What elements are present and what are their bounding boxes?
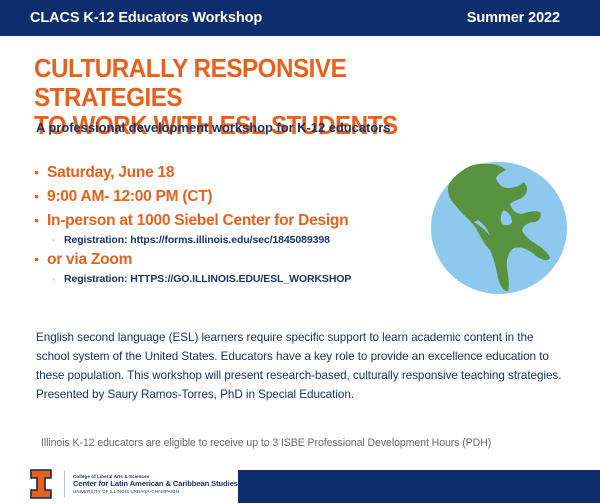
pdh-eligibility-note: Illinois K-12 educators are eligible to … [41,437,581,449]
list-item: • In-person at 1000 Siebel Center for De… [34,210,414,232]
bullet-dot-icon: • [34,189,47,203]
header-season-label: Summer 2022 [467,10,560,26]
list-item-label: 9:00 AM- 12:00 PM (CT) [47,186,212,208]
event-details-list: • Saturday, June 18 • 9:00 AM- 12:00 PM … [34,162,414,288]
list-item-label: Saturday, June 18 [47,162,174,184]
headline-line-1: CULTURALLY RESPONSIVE STRATEGIES [34,53,346,112]
illinois-block-i-logo [28,469,54,499]
list-item: • or via Zoom [34,249,414,271]
page-subtitle: A professional development workshop for … [36,120,390,135]
footer-navy-block [238,470,600,503]
bullet-dot-icon: • [34,165,47,179]
in-person-registration-link[interactable]: Registration: https://forms.illinois.edu… [64,234,330,246]
description-text: English second language (ESL) learners r… [36,329,564,386]
list-item-label: or via Zoom [47,249,132,271]
hollow-bullet-icon: ◦ [52,275,64,284]
bullet-dot-icon: • [34,213,47,227]
list-sub-item: ◦ Registration: HTTPS://GO.ILLINOIS.EDU/… [52,273,414,285]
list-item-label: In-person at 1000 Siebel Center for Desi… [47,210,348,232]
list-item: • 9:00 AM- 12:00 PM (CT) [34,186,414,208]
footer-bar: College of Liberal Arts & Sciences Cente… [0,470,600,503]
logo-text-lines: College of Liberal Arts & Sciences Cente… [73,474,238,495]
logo-university-line: UNIVERSITY OF ILLINOIS URBANA-CHAMPAIGN [73,489,238,494]
header-bar: CLACS K-12 Educators Workshop Summer 202… [0,0,600,36]
description-paragraph: English second language (ESL) learners r… [36,329,564,405]
flyer-content: CULTURALLY RESPONSIVE STRATEGIES TO WORK… [0,36,600,470]
logo-divider [64,471,65,497]
header-workshop-title: CLACS K-12 Educators Workshop [30,10,262,26]
zoom-registration-link[interactable]: Registration: HTTPS://GO.ILLINOIS.EDU/ES… [64,273,351,285]
bullet-dot-icon: • [34,252,47,266]
hollow-bullet-icon: ◦ [52,236,64,245]
list-item: • Saturday, June 18 [34,162,414,184]
clacs-logo-lockup: College of Liberal Arts & Sciences Cente… [28,464,238,504]
list-sub-item: ◦ Registration: https://forms.illinois.e… [52,234,414,246]
logo-center-line: Center for Latin American & Caribbean St… [73,480,238,489]
presenter-text: Presented by Saury Ramos-Torres, PhD in … [36,386,564,405]
globe-americas-icon [424,160,574,296]
